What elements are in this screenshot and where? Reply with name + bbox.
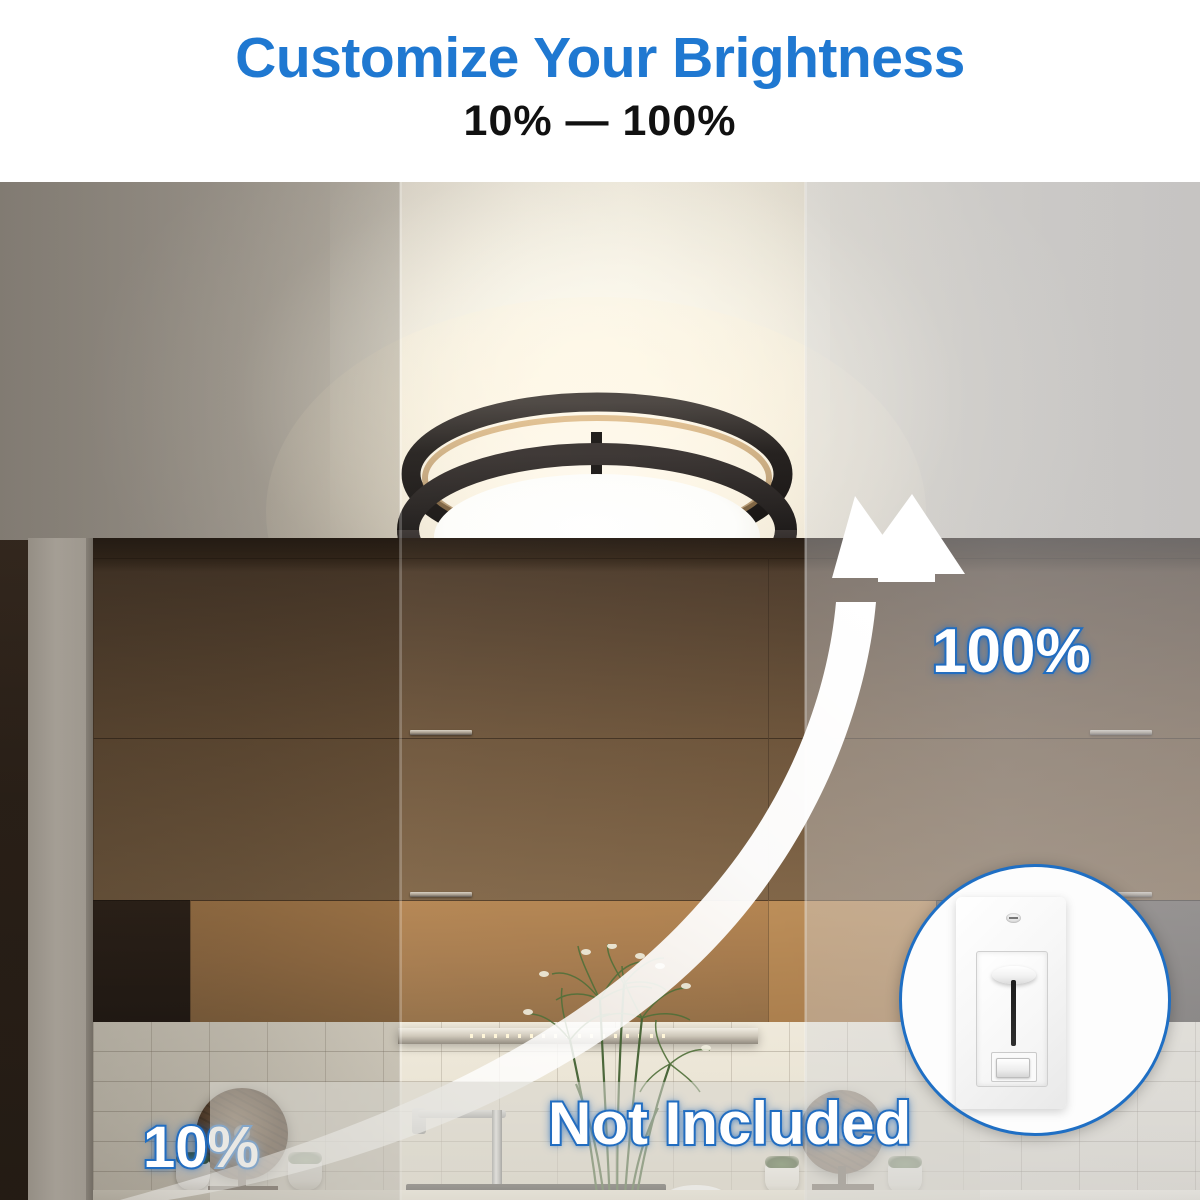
dimmer-switch-inset (899, 864, 1171, 1136)
product-infographic: Customize Your Brightness 10% — 100% (0, 0, 1200, 1200)
band-divider (399, 182, 402, 1200)
header-banner: Customize Your Brightness 10% — 100% (0, 0, 1200, 182)
label-100-percent: 100% (932, 616, 1091, 687)
page-subtitle: 10% — 100% (0, 100, 1200, 143)
cabinet-door (93, 738, 768, 900)
cabinet-door (93, 558, 768, 738)
cabinet-handle (410, 730, 472, 735)
dimmer-switch-well (991, 1052, 1037, 1082)
dimmer-control-face[interactable] (976, 951, 1048, 1087)
band-divider (804, 182, 807, 1200)
page-title: Customize Your Brightness (0, 30, 1200, 87)
dimmer-wall-plate (956, 897, 1066, 1109)
not-included-label: Not Included (548, 1089, 911, 1158)
dimmer-slider-track[interactable] (1011, 980, 1016, 1046)
dimmer-power-switch[interactable] (996, 1058, 1030, 1078)
cabinet-handle (410, 892, 472, 897)
cabinet-handle (1090, 730, 1152, 735)
left-wall (28, 538, 90, 1200)
dimmer-screw-icon (1006, 913, 1021, 923)
